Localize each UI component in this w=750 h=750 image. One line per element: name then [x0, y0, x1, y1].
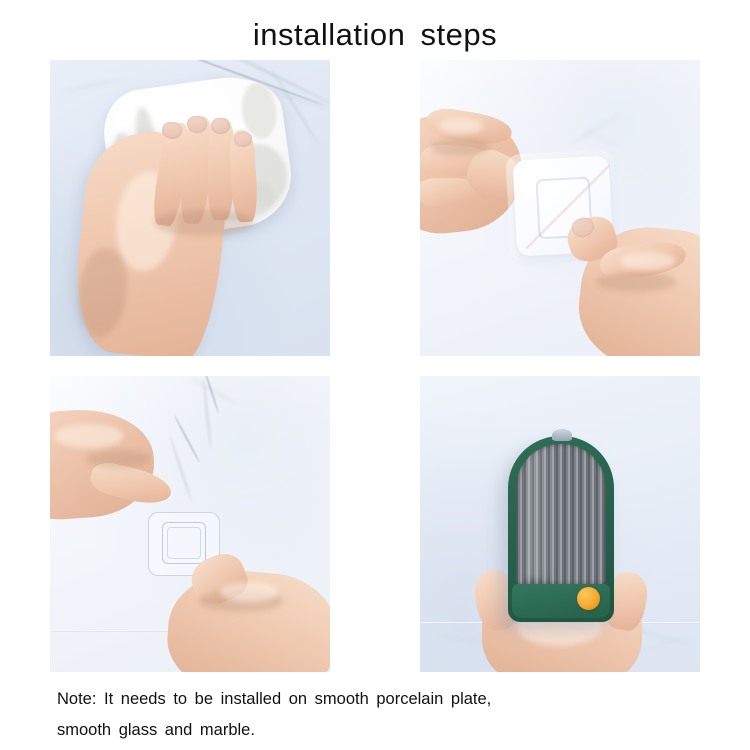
hand-highlight — [438, 118, 484, 134]
step-1-photo — [50, 60, 330, 356]
step-3-photo — [50, 376, 330, 672]
device-base — [512, 584, 610, 618]
page-title: installation steps — [0, 17, 750, 53]
hand-highlight — [620, 252, 676, 270]
hand-highlight — [54, 424, 124, 448]
hand-highlight — [220, 582, 278, 602]
hand-shadow — [430, 138, 490, 156]
hanging-hook-icon — [552, 429, 572, 441]
note-line-1: Note: It needs to be installed on smooth… — [57, 684, 717, 715]
steps-image-grid — [50, 60, 700, 672]
installation-note: Note: It needs to be installed on smooth… — [57, 684, 717, 746]
ribbed-washboard-surface — [516, 444, 606, 584]
orange-knob — [577, 587, 600, 610]
fingernail — [211, 118, 230, 134]
step-4-photo — [420, 376, 700, 672]
step-2-photo — [420, 60, 700, 356]
hand-shadow — [86, 450, 150, 468]
sticker-inner-frame — [167, 527, 201, 559]
green-washboard-device — [508, 436, 614, 622]
hand-shadow — [596, 272, 676, 292]
board-gloss — [526, 448, 560, 578]
finger-shadow — [154, 210, 254, 236]
note-line-2: smooth glass and marble. — [57, 715, 717, 746]
